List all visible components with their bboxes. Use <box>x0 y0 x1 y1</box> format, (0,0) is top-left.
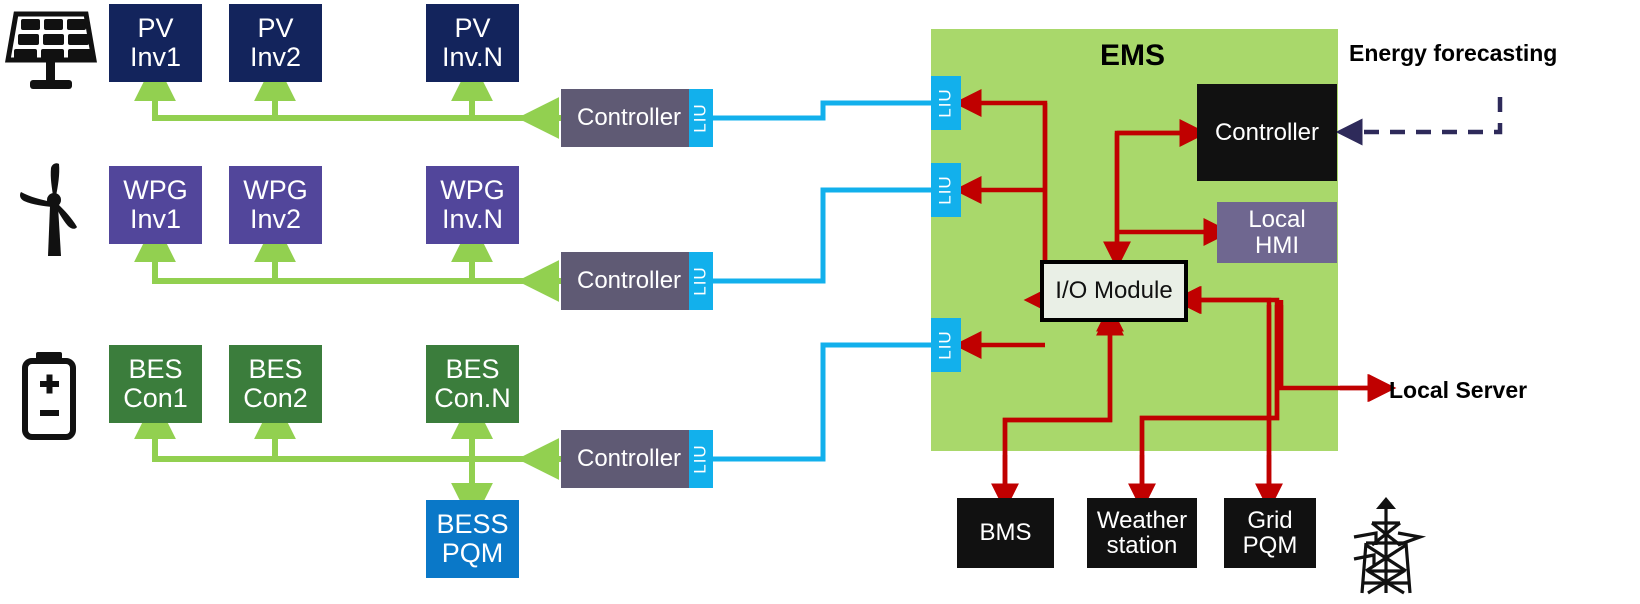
pv-inv-2[interactable]: PVInv2 <box>229 4 322 82</box>
pv-controller-liu-label: LIU <box>692 103 710 132</box>
wpg-inv-n-line1: WPG <box>440 176 505 205</box>
weather-station-box[interactable]: Weatherstation <box>1087 498 1197 568</box>
transmission-tower-icon <box>1354 497 1420 593</box>
bess-pqm-line2: PQM <box>436 539 508 568</box>
solar-panel-icon <box>8 14 94 89</box>
local-hmi-line2: HMI <box>1248 233 1305 258</box>
bes-controller-liu-label: LIU <box>692 444 710 473</box>
grid-pqm-box[interactable]: GridPQM <box>1224 498 1316 568</box>
pv-controller[interactable]: Controller <box>561 89 689 147</box>
green-control-bus <box>155 82 588 502</box>
battery-icon <box>25 352 73 437</box>
ems-title: EMS <box>1100 39 1165 73</box>
bess-pqm-line1: BESS <box>436 510 508 539</box>
ems-controller[interactable]: Controller <box>1197 84 1337 181</box>
io-module-label: I/O Module <box>1055 278 1172 303</box>
wpg-inv-n-line2: Inv.N <box>440 205 505 234</box>
pv-inv-n-line2: Inv.N <box>442 43 503 72</box>
pv-inv-n-line1: PV <box>442 14 503 43</box>
bes-con-n-line2: Con.N <box>434 384 511 413</box>
wpg-inv-2-line1: WPG <box>243 176 308 205</box>
pv-inv-1[interactable]: PVInv1 <box>109 4 202 82</box>
pv-controller-label: Controller <box>577 105 681 130</box>
bes-controller-label: Controller <box>577 446 681 471</box>
bes-con-1[interactable]: BESCon1 <box>109 345 202 423</box>
local-hmi[interactable]: LocalHMI <box>1217 202 1337 263</box>
bes-con-2-line2: Con2 <box>243 384 308 413</box>
bms-label: BMS <box>979 520 1031 545</box>
local-hmi-line1: Local <box>1248 207 1305 232</box>
wpg-inv-1-line1: WPG <box>123 176 188 205</box>
io-module[interactable]: I/O Module <box>1040 260 1188 322</box>
ems-liu-port-3-label: LIU <box>937 330 955 359</box>
bes-con-1-line1: BES <box>123 355 188 384</box>
wpg-inv-2-line2: Inv2 <box>243 205 308 234</box>
bes-con-n[interactable]: BESCon.N <box>426 345 519 423</box>
bes-controller-liu[interactable]: LIU <box>689 430 713 488</box>
bes-controller[interactable]: Controller <box>561 430 689 488</box>
bes-con-1-line2: Con1 <box>123 384 188 413</box>
energy-forecasting-label: Energy forecasting <box>1349 40 1557 67</box>
weather-station-line2: station <box>1097 533 1187 558</box>
local-server-label: Local Server <box>1389 377 1527 404</box>
wpg-controller[interactable]: Controller <box>561 252 689 310</box>
ems-controller-label: Controller <box>1215 120 1319 145</box>
wpg-inv-n[interactable]: WPGInv.N <box>426 166 519 244</box>
wpg-inv-1-line2: Inv1 <box>123 205 188 234</box>
pv-inv-1-line2: Inv1 <box>130 43 181 72</box>
grid-pqm-line1: Grid <box>1243 508 1298 533</box>
grid-pqm-line2: PQM <box>1243 533 1298 558</box>
pv-inv-n[interactable]: PVInv.N <box>426 4 519 82</box>
wpg-inv-1[interactable]: WPGInv1 <box>109 166 202 244</box>
ems-liu-port-2-label: LIU <box>937 175 955 204</box>
blue-liu-links <box>713 103 934 459</box>
bms-box[interactable]: BMS <box>957 498 1054 568</box>
wpg-controller-liu[interactable]: LIU <box>689 252 713 310</box>
wpg-controller-label: Controller <box>577 268 681 293</box>
bes-con-n-line1: BES <box>434 355 511 384</box>
ems-liu-port-1-label: LIU <box>937 88 955 117</box>
diagram-canvas: PVInv1 PVInv2 PVInv.N Controller LIU WPG… <box>0 0 1640 604</box>
bes-con-2-line1: BES <box>243 355 308 384</box>
wpg-controller-liu-label: LIU <box>692 266 710 295</box>
pv-inv-2-line2: Inv2 <box>250 43 301 72</box>
wind-turbine-icon <box>20 163 77 256</box>
bes-con-2[interactable]: BESCon2 <box>229 345 322 423</box>
ems-liu-port-1[interactable]: LIU <box>931 76 961 130</box>
pv-inv-1-line1: PV <box>130 14 181 43</box>
energy-forecasting-link <box>1350 97 1500 132</box>
weather-station-line1: Weather <box>1097 508 1187 533</box>
bess-pqm[interactable]: BESSPQM <box>426 500 519 578</box>
connector-layer <box>0 0 1640 604</box>
wpg-inv-2[interactable]: WPGInv2 <box>229 166 322 244</box>
ems-liu-port-2[interactable]: LIU <box>931 163 961 217</box>
pv-controller-liu[interactable]: LIU <box>689 89 713 147</box>
pv-inv-2-line1: PV <box>250 14 301 43</box>
ems-liu-port-3[interactable]: LIU <box>931 318 961 372</box>
